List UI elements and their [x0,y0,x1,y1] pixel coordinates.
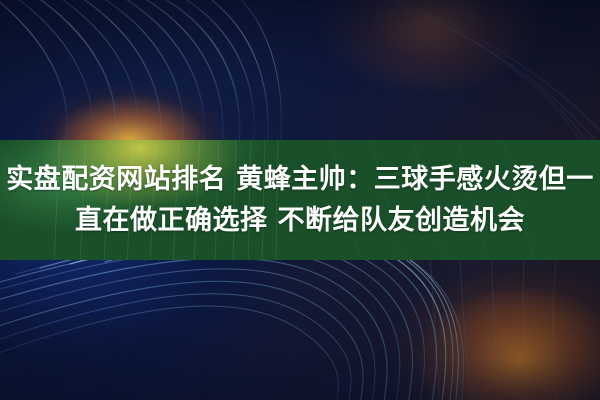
headline-line-1: 实盘配资网站排名 黄蜂主帅：三球手感火烫但一 [6,159,593,200]
headline-banner: 实盘配资网站排名 黄蜂主帅：三球手感火烫但一 直在做正确选择 不断给队友创造机会 [0,140,600,260]
banner-graphic: 实盘配资网站排名 黄蜂主帅：三球手感火烫但一 直在做正确选择 不断给队友创造机会 [0,0,600,400]
headline-line-2: 直在做正确选择 不断给队友创造机会 [75,200,525,241]
